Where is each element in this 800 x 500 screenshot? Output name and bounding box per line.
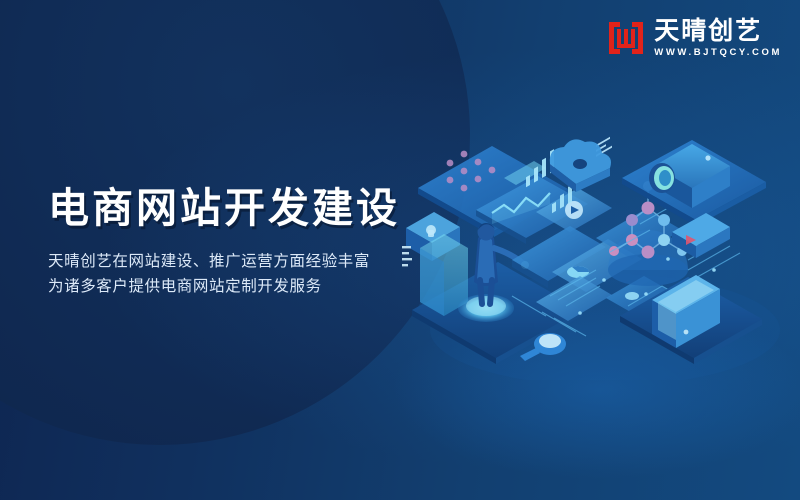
brand-logo[interactable]: 天晴创艺 WWW.BJTQCY.COM (607, 14, 782, 62)
logo-text-block: 天晴创艺 WWW.BJTQCY.COM (654, 18, 782, 59)
hero-banner: 天晴创艺 WWW.BJTQCY.COM 电商网站开发建设 天晴创艺在网站建设、推… (0, 0, 800, 500)
page-title: 电商网站开发建设 (48, 183, 468, 233)
hero-subtitle: 天晴创艺在网站建设、推广运营方面经验丰富 为诸多客户提供电商网站定制开发服务 (48, 249, 468, 299)
logo-bracket-mark-icon (607, 20, 645, 56)
hero-copy-block: 电商网站开发建设 天晴创艺在网站建设、推广运营方面经验丰富 为诸多客户提供电商网… (48, 183, 468, 299)
hero-subtitle-line-1: 天晴创艺在网站建设、推广运营方面经验丰富 (48, 249, 468, 274)
hero-subtitle-line-2: 为诸多客户提供电商网站定制开发服务 (48, 274, 468, 299)
logo-website-url: WWW.BJTQCY.COM (654, 46, 782, 59)
logo-company-name: 天晴创艺 (654, 18, 782, 44)
